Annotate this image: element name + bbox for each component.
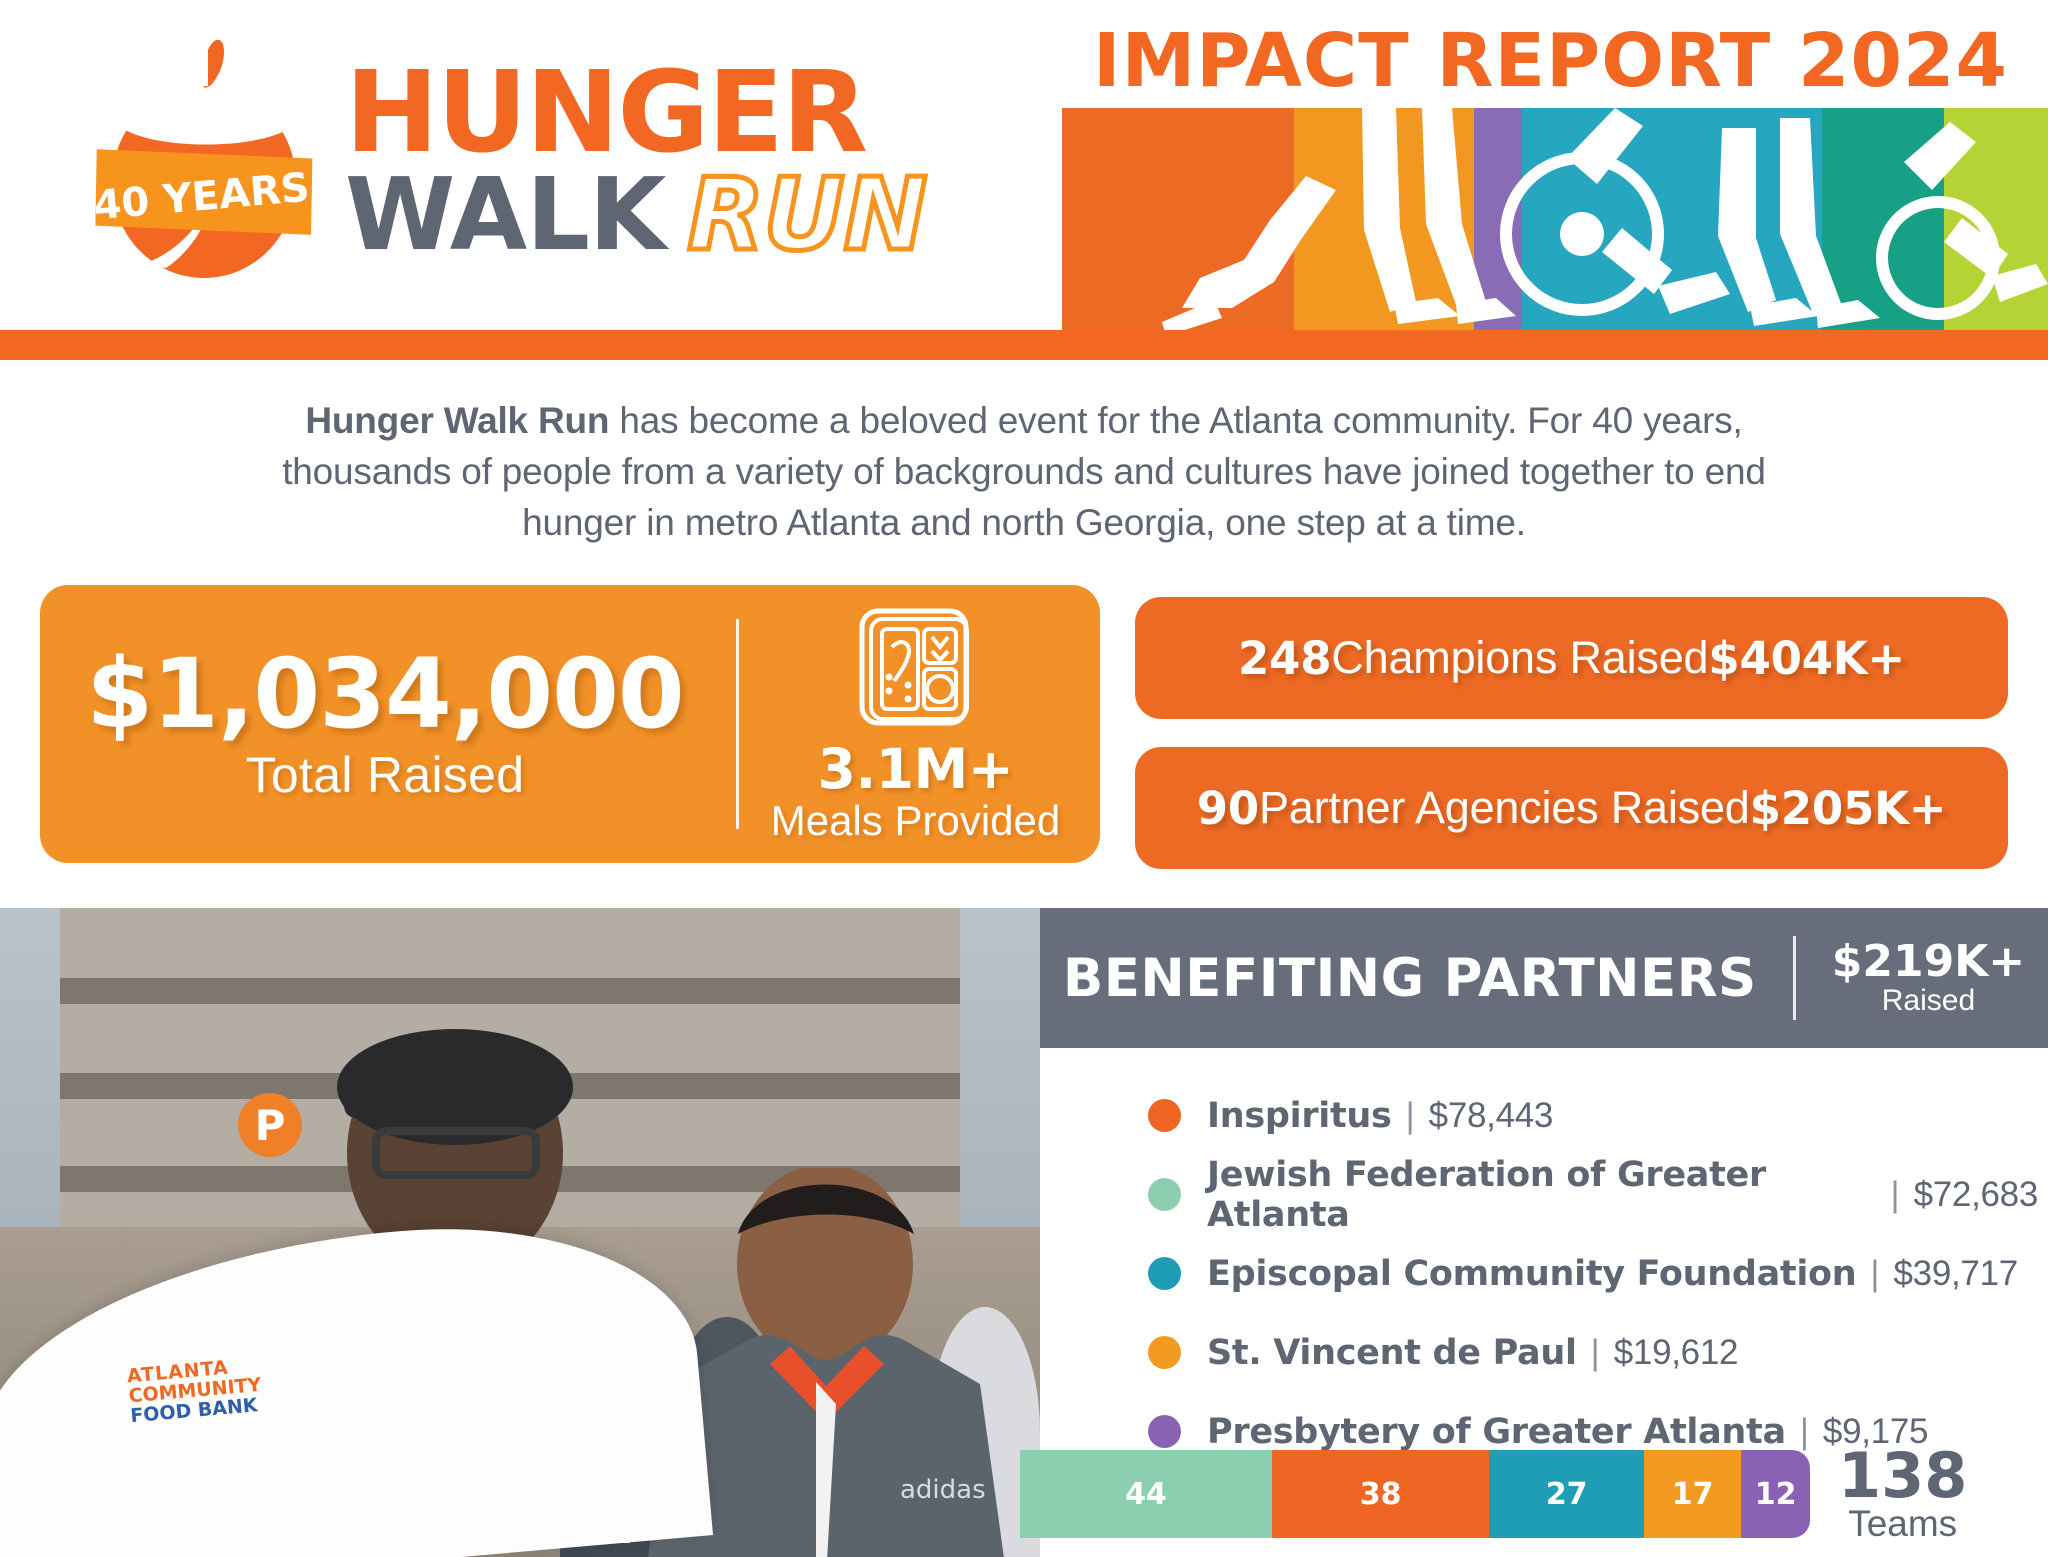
partner-list: Inspiritus | $78,443 Jewish Federation o…	[1148, 1076, 2038, 1471]
total-raised-label: Total Raised	[40, 746, 730, 804]
teams-stacked-bar-chart: 4438271712 138 Teams	[1020, 1439, 2048, 1549]
partners-header: BENEFITING PARTNERS $219K+ Raised	[1040, 908, 2048, 1048]
bottom-section: P ATLANTA COMMUNITY FOOD BANK HUNGER WAL…	[0, 908, 2048, 1557]
partner-color-dot	[1148, 1336, 1181, 1369]
intro-paragraph: Hunger Walk Run has become a beloved eve…	[274, 395, 1774, 548]
partner-amount: $72,683	[1914, 1175, 2038, 1215]
card-divider	[736, 619, 739, 829]
teams-total-block: 138 Teams	[1838, 1446, 1967, 1543]
partner-separator: |	[1406, 1096, 1415, 1136]
logo-walk-text: WALK	[345, 167, 665, 262]
partners-raised-block: $219K+ Raised	[1832, 939, 2025, 1017]
partner-separator: |	[1591, 1333, 1600, 1373]
partner-name: Jewish Federation of Greater Atlanta	[1207, 1155, 1876, 1235]
total-raised-block: $1,034,000 Total Raised	[40, 644, 730, 805]
partner-color-dot	[1148, 1178, 1181, 1211]
list-item[interactable]: St. Vincent de Paul | $19,612	[1148, 1313, 2038, 1392]
partner-amount: $19,612	[1614, 1333, 1738, 1373]
stats-row: $1,034,000 Total Raised 3.1M+ Meal	[0, 585, 2048, 885]
partner-name: St. Vincent de Paul	[1207, 1333, 1577, 1373]
partners-title: BENEFITING PARTNERS	[1063, 948, 1757, 1009]
partner-name: Episcopal Community Foundation	[1207, 1254, 1856, 1294]
meals-value: 3.1M+	[745, 737, 1086, 801]
meals-provided-block: 3.1M+ Meals Provided	[745, 603, 1100, 845]
agencies-mid-text: Partner Agencies Raised	[1259, 782, 1750, 834]
partner-separator: |	[1890, 1175, 1899, 1215]
meal-tray-icon	[858, 603, 974, 729]
runners-banner	[1062, 108, 2048, 330]
teams-bar-segment: 17	[1644, 1450, 1741, 1538]
partners-raised-amount: $219K+	[1832, 939, 2025, 985]
page-header: 40 YEARS HUNGER WALK RUN IMPACT REPORT 2…	[0, 0, 2048, 330]
event-photo: P ATLANTA COMMUNITY FOOD BANK HUNGER WAL…	[0, 908, 1040, 1557]
champions-mid-text: Champions Raised	[1331, 632, 1708, 684]
partner-amount: $39,717	[1894, 1254, 2018, 1294]
teams-bar-segment: 12	[1741, 1450, 1810, 1538]
partner-separator: |	[1870, 1254, 1879, 1294]
peach-logo-icon: 40 YEARS	[82, 32, 337, 282]
champions-pill: 248 Champions Raised $404K+	[1135, 597, 2008, 719]
teams-total-label: Teams	[1838, 1506, 1967, 1542]
champions-amount: $404K+	[1708, 632, 1905, 685]
list-item[interactable]: Jewish Federation of Greater Atlanta | $…	[1148, 1155, 2038, 1234]
champions-count: 248	[1238, 632, 1331, 685]
partners-raised-label: Raised	[1832, 985, 2025, 1017]
teams-bar-segment: 38	[1272, 1450, 1490, 1538]
agencies-amount: $205K+	[1750, 782, 1947, 835]
partner-color-dot	[1148, 1099, 1181, 1132]
header-orange-rule	[0, 330, 2048, 360]
runners-wheelchair-silhouette-icon	[1062, 108, 2048, 330]
partner-amount: $78,443	[1429, 1096, 1553, 1136]
teams-total-number: 138	[1838, 1446, 1967, 1507]
photo-banner-brand: ATLANTA COMMUNITY FOOD BANK	[126, 1356, 264, 1427]
teams-bar-segment: 27	[1489, 1450, 1644, 1538]
logo-wordmark: HUNGER WALK RUN	[345, 62, 926, 262]
logo-run-text: RUN	[687, 167, 926, 262]
total-raised-amount: $1,034,000	[40, 644, 730, 745]
partner-agencies-pill: 90 Partner Agencies Raised $205K+	[1135, 747, 2008, 869]
total-raised-card: $1,034,000 Total Raised 3.1M+ Meal	[40, 585, 1100, 863]
logo-hunger-text: HUNGER	[345, 62, 926, 165]
list-item[interactable]: Episcopal Community Foundation | $39,717	[1148, 1234, 2038, 1313]
partner-color-dot	[1148, 1257, 1181, 1290]
teams-bar-segment: 44	[1020, 1450, 1272, 1538]
intro-lead: Hunger Walk Run	[305, 400, 609, 441]
teams-stack: 4438271712	[1020, 1450, 1810, 1538]
partner-name: Inspiritus	[1207, 1096, 1392, 1136]
agencies-count: 90	[1197, 782, 1259, 835]
meals-label: Meals Provided	[745, 797, 1086, 845]
svg-text:adidas: adidas	[900, 1475, 986, 1505]
list-item[interactable]: Inspiritus | $78,443	[1148, 1076, 2038, 1155]
hunger-walk-run-logo: 40 YEARS HUNGER WALK RUN	[60, 22, 1070, 292]
page-title: IMPACT REPORT 2024	[1093, 18, 2008, 104]
partners-header-divider	[1793, 936, 1796, 1020]
